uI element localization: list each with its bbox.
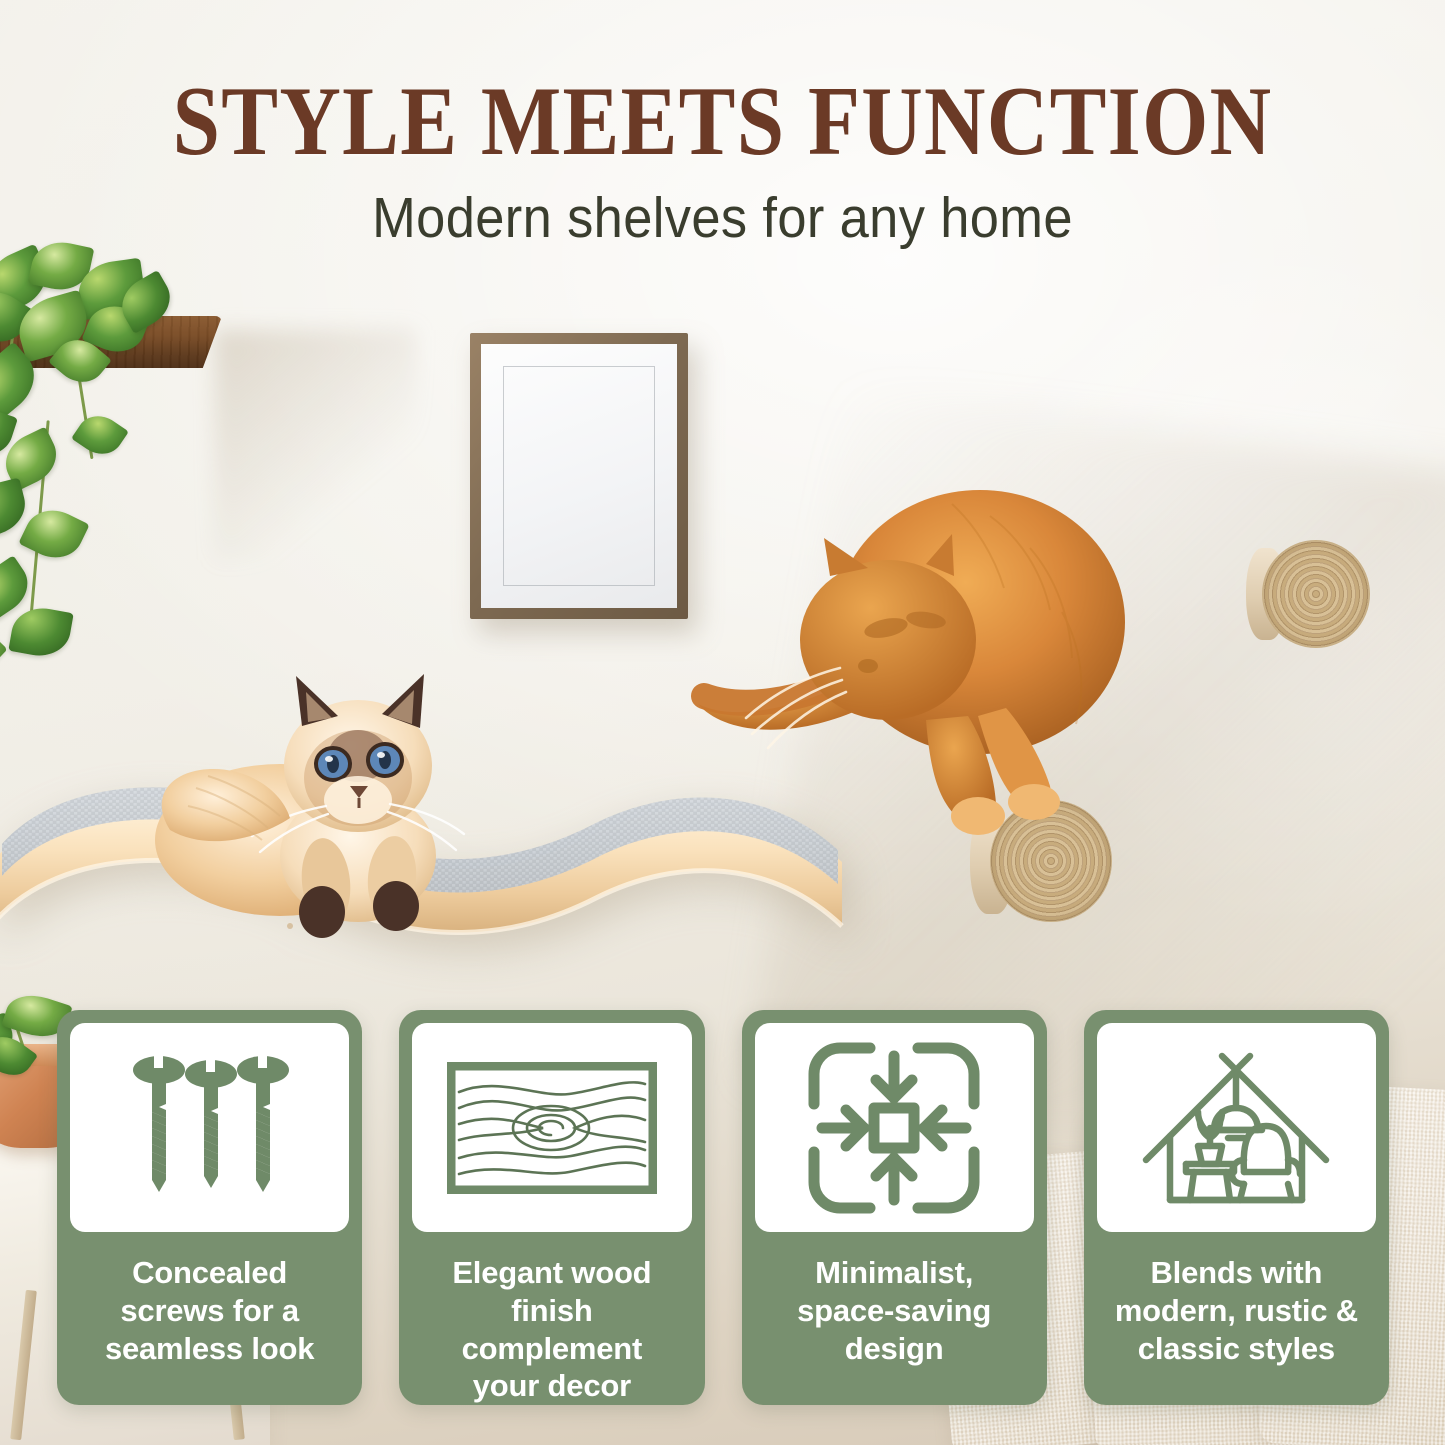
icon-panel [70, 1023, 349, 1232]
sisal-step-upper [1262, 540, 1370, 648]
house-interior-icon [1138, 1042, 1334, 1214]
feature-card-wood-finish[interactable]: Elegant wood finish complement your deco… [399, 1010, 704, 1405]
feature-card-label: Elegant wood finish complement your deco… [412, 1254, 691, 1405]
wall-ledge-shelf [0, 316, 222, 368]
feature-line: Concealed [105, 1254, 314, 1292]
page-subtitle: Modern shelves for any home [58, 190, 1387, 247]
feature-card-concealed-screws[interactable]: Concealed screws for a seamless look [57, 1010, 362, 1405]
feature-line: modern, rustic & [1115, 1292, 1358, 1330]
wood-grain-icon [447, 1062, 657, 1194]
feature-card-label: Concealed screws for a seamless look [99, 1254, 320, 1367]
ledge-shadow [215, 330, 415, 560]
feature-card-label: Blends with modern, rustic & classic sty… [1109, 1254, 1364, 1367]
page-title: STYLE MEETS FUNCTION [101, 72, 1344, 171]
icon-panel [412, 1023, 691, 1232]
feature-line: your decor [418, 1367, 685, 1405]
screws-icon [115, 1048, 305, 1208]
feature-line: Blends with [1115, 1254, 1358, 1292]
feature-line: space-saving [797, 1292, 991, 1330]
feature-line: Elegant wood [418, 1254, 685, 1292]
picture-frame [470, 333, 688, 619]
feature-card-style-blend[interactable]: Blends with modern, rustic & classic sty… [1084, 1010, 1389, 1405]
feature-line: screws for a [105, 1292, 314, 1330]
product-infographic: STYLE MEETS FUNCTION Modern shelves for … [0, 0, 1445, 1445]
feature-card-label: Minimalist, space-saving design [791, 1254, 997, 1367]
space-saving-arrows-icon [806, 1040, 982, 1216]
feature-line: seamless look [105, 1330, 314, 1368]
feature-line: design [797, 1330, 991, 1368]
feature-line: classic styles [1115, 1330, 1358, 1368]
feature-line: Minimalist, [797, 1254, 991, 1292]
feature-line: finish complement [418, 1292, 685, 1368]
feature-card-space-saving[interactable]: Minimalist, space-saving design [742, 1010, 1047, 1405]
icon-panel [755, 1023, 1034, 1232]
frame-mat [481, 344, 677, 608]
icon-panel [1097, 1023, 1376, 1232]
feature-card-row: Concealed screws for a seamless look [57, 1010, 1389, 1392]
siamese-cat [130, 660, 590, 960]
